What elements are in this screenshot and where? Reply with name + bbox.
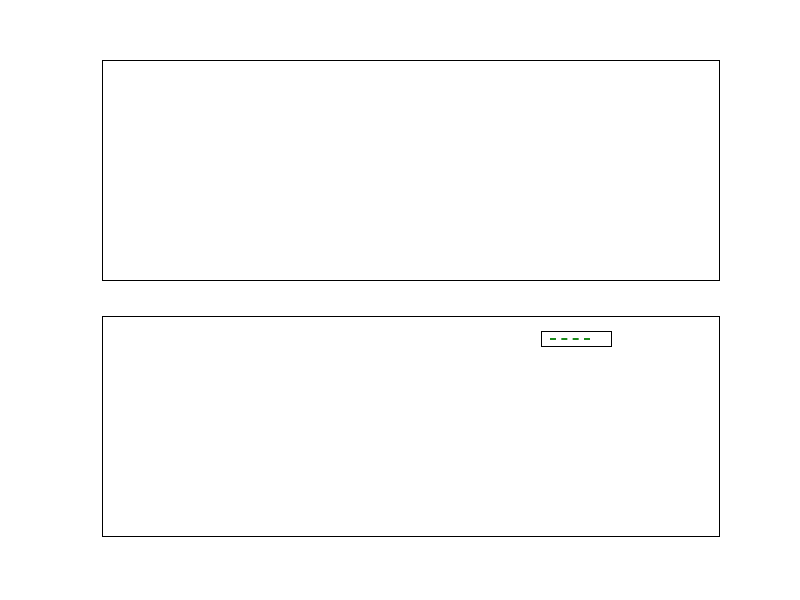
top-panel-ylabel <box>38 60 62 281</box>
mag-limit-line-icon <box>550 338 590 340</box>
histogram-plot <box>103 61 719 280</box>
cumulative-plot <box>103 317 719 536</box>
figure-canvas <box>0 0 800 600</box>
top-panel-axes <box>102 60 720 281</box>
bottom-panel-axes <box>102 316 720 537</box>
legend-box[interactable] <box>541 331 612 347</box>
bottom-panel-ylabel <box>38 316 62 537</box>
